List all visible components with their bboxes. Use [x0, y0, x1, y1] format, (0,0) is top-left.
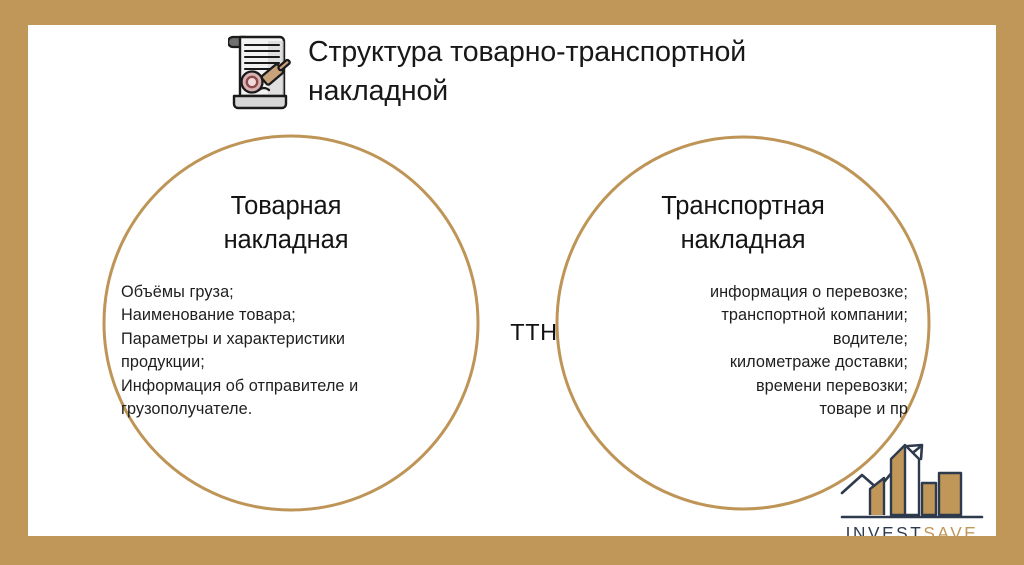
right-circle-content: Транспортная накладная информация о пере… — [578, 190, 908, 422]
right-circle-heading-line1: Транспортная — [578, 190, 908, 224]
logo-word-invest: INVEST — [846, 523, 924, 536]
left-circle-heading-line2: накладная — [121, 224, 451, 258]
page-title: Структура товарно-транспортной накладной — [308, 28, 848, 112]
logo-word-save: SAVE — [923, 523, 978, 536]
left-circle-list: Объёмы груза; Наименование товара; Парам… — [121, 281, 451, 422]
right-circle-list: информация о перевозке; транспортной ком… — [578, 281, 908, 422]
logo-wordmark: INVESTSAVE — [836, 523, 988, 536]
left-circle-heading-line1: Товарная — [121, 190, 451, 224]
venn-overlap-label: ТТН — [478, 319, 590, 346]
buildings-growth-arrow-icon — [836, 437, 988, 529]
infographic-canvas: Структура товарно-транспортной накладной… — [0, 0, 1024, 565]
left-circle-content: Товарная накладная Объёмы груза; Наимено… — [121, 190, 451, 422]
left-circle-heading: Товарная накладная — [121, 190, 451, 258]
right-circle-heading-line2: накладная — [578, 224, 908, 258]
scroll-gavel-seal-icon — [228, 32, 294, 112]
infographic-inner-canvas: Структура товарно-транспортной накладной… — [28, 25, 996, 536]
page-title-block: Структура товарно-транспортной накладной — [228, 28, 868, 128]
right-circle-heading: Транспортная накладная — [578, 190, 908, 258]
